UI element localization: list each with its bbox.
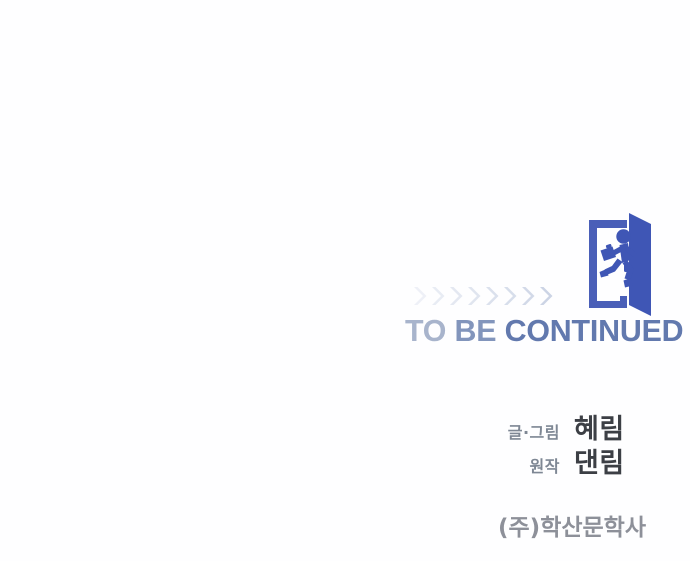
chevron-right-icon-7 bbox=[520, 285, 537, 307]
chevron-right-icon-8 bbox=[538, 285, 555, 307]
credits-block: 글·그림 혜림 원작 댄림 bbox=[380, 415, 646, 483]
chevron-right-icon-6 bbox=[502, 285, 519, 307]
comic-end-card-page: TO BE CONTINUED 글·그림 혜림 원작 댄림 (주)학산문학사 bbox=[0, 0, 690, 561]
chevron-right-icon-4 bbox=[466, 285, 483, 307]
credit-name-writing-art: 혜림 bbox=[574, 415, 646, 444]
chevron-right-icon-1 bbox=[412, 285, 429, 307]
credit-name-original-work: 댄림 bbox=[574, 449, 646, 478]
credit-row: 원작 댄림 bbox=[380, 449, 646, 478]
chevron-right-icon-3 bbox=[448, 285, 465, 307]
credit-label-writing-art: 글·그림 bbox=[508, 419, 560, 443]
headline-word-be: BE bbox=[455, 313, 497, 348]
exit-door-running-man-icon bbox=[583, 210, 655, 318]
to-be-continued-headline: TO BE CONTINUED bbox=[405, 315, 683, 346]
credit-label-original-work: 원작 bbox=[530, 453, 560, 477]
headline-word-to: TO bbox=[405, 313, 446, 348]
chevron-right-icon-5 bbox=[484, 285, 501, 307]
chevron-trail bbox=[412, 285, 555, 307]
credit-row: 글·그림 혜림 bbox=[380, 415, 646, 444]
publisher-name: (주)학산문학사 bbox=[380, 508, 646, 542]
chevron-right-icon-2 bbox=[430, 285, 447, 307]
headline-word-continued: CONTINUED bbox=[505, 313, 684, 348]
to-be-continued-group: TO BE CONTINUED bbox=[405, 210, 655, 355]
